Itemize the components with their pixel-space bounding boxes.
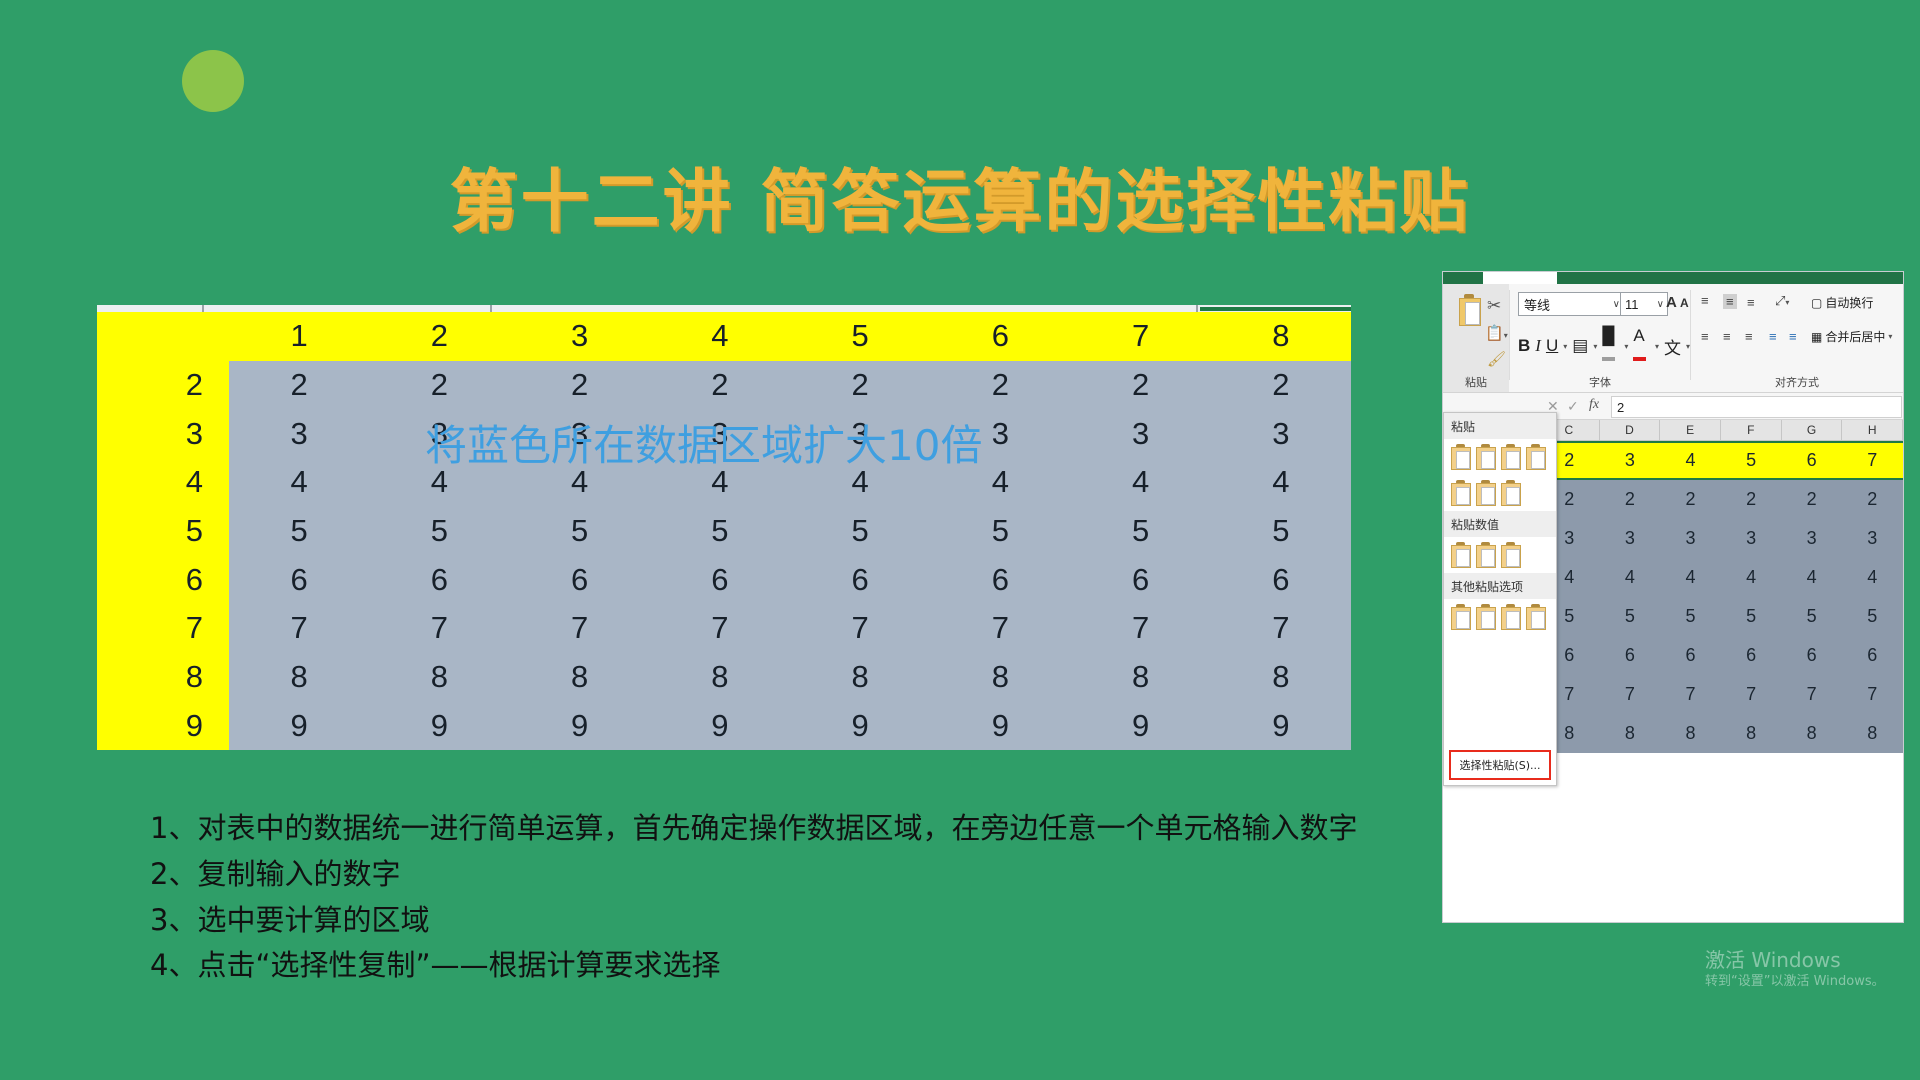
clipboard-page <box>1465 302 1480 325</box>
mini-cell: 5 <box>1721 441 1782 480</box>
main-header-cell: 7 <box>1071 312 1211 361</box>
mini-cell: 2 <box>1781 480 1842 519</box>
main-data-cell: 6 <box>369 555 509 604</box>
main-data-cell: 9 <box>229 701 369 750</box>
clipboard-content <box>1531 611 1545 629</box>
mini-cell: 5 <box>1781 597 1842 636</box>
paste-other-icons <box>1444 599 1556 635</box>
mini-cell: 2 <box>1842 480 1903 519</box>
main-data-cell: 6 <box>510 555 650 604</box>
tab-home-active[interactable] <box>1483 272 1557 284</box>
main-data-cell: 3 <box>650 409 790 458</box>
note-line-2: 2、复制输入的数字 <box>150 852 1440 898</box>
main-data-cell: 4 <box>229 458 369 507</box>
sheet-column-bar <box>97 305 1351 312</box>
main-data-cell: 6 <box>229 555 369 604</box>
main-data-cell: 8 <box>790 653 930 702</box>
main-data-cell: 8 <box>1211 653 1351 702</box>
paste-option-icon[interactable] <box>1450 444 1471 469</box>
main-header-cell: 6 <box>930 312 1070 361</box>
mini-column-header[interactable]: F <box>1721 420 1782 440</box>
clipboard-content <box>1456 451 1470 469</box>
main-data-cell: 9 <box>1211 701 1351 750</box>
main-data-cell: 9 <box>790 701 930 750</box>
mini-cell: 4 <box>1842 558 1903 597</box>
mini-cell: 8 <box>1721 714 1782 753</box>
mini-cell: 5 <box>1721 597 1782 636</box>
underline-chevron-icon[interactable]: ▾ <box>1563 342 1567 351</box>
main-header-cell: 5 <box>790 312 930 361</box>
main-grid: 1234567822222222233333333344444444455555… <box>97 312 1351 750</box>
mini-sheet-column-headers: CDEFGH <box>1539 420 1903 441</box>
mini-cell: 7 <box>1842 675 1903 714</box>
main-data-cell: 7 <box>229 604 369 653</box>
main-data-cell: 7 <box>1211 604 1351 653</box>
main-data-cell: 9 <box>930 701 1070 750</box>
bold-button[interactable]: B <box>1518 336 1530 356</box>
windows-activation-watermark: 激活 Windows 转到“设置”以激活 Windows。 <box>1705 948 1920 991</box>
fill-chevron-icon[interactable]: ▾ <box>1624 342 1628 351</box>
main-data-cell: 5 <box>930 507 1070 556</box>
orientation-icon[interactable]: ⤢▾ <box>1775 294 1789 307</box>
ribbon-group-font: 等线 ∨ 11 ∨ A A B I U ▾ ▤ ▾ █ ▾ A ▾ 文 ▾ <box>1510 284 1690 392</box>
selection-marker <box>1200 307 1351 311</box>
clipboard-content <box>1481 611 1495 629</box>
main-data-cell: 5 <box>1211 507 1351 556</box>
main-row-header-cell: 5 <box>97 507 229 556</box>
main-data-cell: 2 <box>790 361 930 410</box>
main-data-cell: 7 <box>1071 604 1211 653</box>
mini-cell: 8 <box>1600 714 1661 753</box>
paste-special-menu-item[interactable]: 选择性粘贴(S)... <box>1449 750 1551 780</box>
paste-option-icon[interactable] <box>1475 480 1496 505</box>
font-size-combo[interactable]: 11 ∨ <box>1620 292 1668 316</box>
main-data-cell: 2 <box>229 361 369 410</box>
col-tick-left <box>202 305 204 312</box>
chevron-down-icon[interactable]: ∨ <box>1657 299 1664 310</box>
main-data-cell: 4 <box>650 458 790 507</box>
paste-other-icon[interactable] <box>1525 604 1546 629</box>
main-data-cell: 5 <box>650 507 790 556</box>
main-data-cell: 9 <box>1071 701 1211 750</box>
col-tick-right <box>1196 305 1198 312</box>
main-header-cell: 1 <box>229 312 369 361</box>
main-data-cell: 5 <box>510 507 650 556</box>
mini-cell: 2 <box>1600 480 1661 519</box>
excel-ribbon: ✂ 📋▾ 🖌 粘贴 等线 ∨ 11 ∨ A A B I U ▾ ▤ <box>1443 284 1903 393</box>
formula-input[interactable]: 2 <box>1611 396 1902 418</box>
mini-column-header[interactable]: D <box>1600 420 1661 440</box>
align-right-icon[interactable]: ≡ <box>1745 330 1753 343</box>
main-data-cell: 6 <box>1211 555 1351 604</box>
mini-cell: 3 <box>1600 441 1661 480</box>
main-data-cell: 3 <box>510 409 650 458</box>
clipboard-content <box>1481 451 1495 469</box>
wrap-text-label: 自动换行 <box>1825 294 1873 311</box>
format-painter-icon[interactable]: 🖌 <box>1487 350 1506 368</box>
decrease-font-size-icon[interactable]: A <box>1680 296 1689 310</box>
clipboard-content <box>1456 549 1470 567</box>
main-header-cell: 2 <box>369 312 509 361</box>
main-data-cell: 2 <box>1211 361 1351 410</box>
clipboard-content <box>1506 451 1520 469</box>
main-data-cell: 9 <box>510 701 650 750</box>
mini-column-header[interactable]: G <box>1782 420 1843 440</box>
paste-menu-section-paste: 粘贴 <box>1444 413 1556 439</box>
main-data-cell: 4 <box>930 458 1070 507</box>
main-data-cell: 5 <box>1071 507 1211 556</box>
cut-icon[interactable]: ✂ <box>1487 296 1501 316</box>
merge-center-icon: ▦ <box>1811 330 1822 344</box>
mini-cell: 4 <box>1781 558 1842 597</box>
main-grid-corner <box>97 312 229 361</box>
ribbon-group-paste: ✂ 📋▾ 🖌 粘贴 <box>1443 284 1509 392</box>
mini-cell: 6 <box>1721 636 1782 675</box>
mini-cell: 3 <box>1721 519 1782 558</box>
paste-value-icons <box>1444 537 1556 573</box>
align-center-icon[interactable]: ≡ <box>1723 330 1731 343</box>
ribbon-group-alignment: ≡ ≡ ≡ ⤢▾ ▢ 自动换行 ≡ ≡ ≡ ≡ ≡ ▦ 合并后居中 ▾ 对齐方式 <box>1691 284 1903 392</box>
paste-menu-section-other: 其他粘贴选项 <box>1444 573 1556 599</box>
paste-value-icon[interactable] <box>1450 542 1471 567</box>
main-data-cell: 4 <box>510 458 650 507</box>
col-tick-mid <box>490 305 492 312</box>
mini-cell: 6 <box>1660 636 1721 675</box>
main-data-cell: 3 <box>229 409 369 458</box>
watermark-line-2: 转到“设置”以激活 Windows。 <box>1705 974 1920 991</box>
main-data-cell: 7 <box>650 604 790 653</box>
main-data-cell: 3 <box>369 409 509 458</box>
main-data-cell: 9 <box>369 701 509 750</box>
main-data-cell: 7 <box>510 604 650 653</box>
font-name-combo[interactable]: 等线 ∨ <box>1518 292 1625 316</box>
paste-dropdown-menu[interactable]: 粘贴 粘贴数值 其他粘贴选项 选择性粘贴(S)... <box>1443 412 1557 786</box>
main-row-header-cell: 7 <box>97 604 229 653</box>
chevron-down-icon[interactable]: ∨ <box>1613 299 1620 310</box>
confirm-entry-icon[interactable]: ✓ <box>1567 398 1579 415</box>
mini-cell: 8 <box>1842 714 1903 753</box>
main-row-header-cell: 6 <box>97 555 229 604</box>
main-data-cell: 8 <box>369 653 509 702</box>
wrap-text-button[interactable]: ▢ 自动换行 <box>1811 294 1873 311</box>
mini-cell: 4 <box>1600 558 1661 597</box>
mini-cell: 6 <box>1781 441 1842 480</box>
increase-indent-icon[interactable]: ≡ <box>1789 330 1797 343</box>
main-data-cell: 8 <box>650 653 790 702</box>
font-name-value: 等线 <box>1524 295 1550 314</box>
note-line-1: 1、对表中的数据统一进行简单运算，首先确定操作数据区域，在旁边任意一个单元格输入… <box>150 806 1440 852</box>
paste-value-icon[interactable] <box>1500 542 1521 567</box>
main-row-header-cell: 9 <box>97 701 229 750</box>
fill-color-icon[interactable]: █ <box>1602 326 1619 366</box>
paste-other-icon[interactable] <box>1450 604 1471 629</box>
mini-cell: 5 <box>1660 597 1721 636</box>
ribbon-group-label-font: 字体 <box>1510 374 1690 390</box>
note-line-4: 4、点击“选择性复制”——根据计算要求选择 <box>150 943 1440 989</box>
font-format-row: B I U ▾ ▤ ▾ █ ▾ A ▾ 文 ▾ <box>1518 326 1690 366</box>
borders-icon[interactable]: ▤ <box>1572 336 1588 356</box>
mini-cell: 7 <box>1781 675 1842 714</box>
mini-cell: 7 <box>1842 441 1903 480</box>
main-row-header-cell: 8 <box>97 653 229 702</box>
mini-cell: 4 <box>1721 558 1782 597</box>
main-data-cell: 7 <box>930 604 1070 653</box>
main-data-cell: 7 <box>790 604 930 653</box>
main-data-cell: 2 <box>369 361 509 410</box>
main-data-cell: 6 <box>650 555 790 604</box>
align-bottom-icon[interactable]: ≡ <box>1747 296 1755 309</box>
decrease-indent-icon[interactable]: ≡ <box>1769 330 1777 343</box>
mini-cell: 4 <box>1660 558 1721 597</box>
mini-cell: 3 <box>1660 519 1721 558</box>
paste-menu-section-values: 粘贴数值 <box>1444 511 1556 537</box>
clipboard-content <box>1506 487 1520 505</box>
main-data-cell: 6 <box>790 555 930 604</box>
mini-cell: 6 <box>1781 636 1842 675</box>
mini-cell: 2 <box>1660 480 1721 519</box>
paste-icon[interactable] <box>1457 294 1481 324</box>
main-data-cell: 9 <box>650 701 790 750</box>
clipboard-content <box>1481 487 1495 505</box>
merge-center-label: 合并后居中 <box>1825 328 1885 345</box>
main-header-cell: 8 <box>1211 312 1351 361</box>
main-spreadsheet: 1234567822222222233333333344444444455555… <box>97 305 1351 750</box>
main-header-cell: 4 <box>650 312 790 361</box>
clipboard-content <box>1456 611 1470 629</box>
paste-option-icons-row1 <box>1444 439 1556 475</box>
ribbon-group-label-paste: 粘贴 <box>1443 374 1509 390</box>
mini-cell: 3 <box>1600 519 1661 558</box>
mini-cell: 3 <box>1781 519 1842 558</box>
clipboard-content <box>1456 487 1470 505</box>
main-data-cell: 5 <box>229 507 369 556</box>
clipboard-content <box>1506 611 1520 629</box>
main-data-cell: 6 <box>1071 555 1211 604</box>
phonetic-guide-icon[interactable]: 文 <box>1664 334 1681 359</box>
main-data-cell: 5 <box>790 507 930 556</box>
main-data-cell: 7 <box>369 604 509 653</box>
main-data-cell: 3 <box>1071 409 1211 458</box>
italic-button[interactable]: I <box>1535 336 1541 356</box>
underline-button[interactable]: U <box>1546 336 1558 356</box>
main-data-cell: 2 <box>650 361 790 410</box>
font-color-icon[interactable]: A <box>1633 326 1650 366</box>
increase-font-size-icon[interactable]: A <box>1666 294 1677 311</box>
mini-cell: 3 <box>1842 519 1903 558</box>
watermark-line-1: 激活 Windows <box>1705 948 1920 972</box>
main-data-cell: 4 <box>369 458 509 507</box>
ribbon-group-label-alignment: 对齐方式 <box>1691 374 1903 390</box>
main-data-cell: 2 <box>1071 361 1211 410</box>
main-data-cell: 2 <box>510 361 650 410</box>
page-title: 第十二讲 简答运算的选择性粘贴 <box>0 146 1920 245</box>
align-left-icon[interactable]: ≡ <box>1701 330 1709 343</box>
font-size-value: 11 <box>1625 297 1639 312</box>
main-data-cell: 4 <box>1211 458 1351 507</box>
main-row-header-cell: 2 <box>97 361 229 410</box>
mini-cell: 7 <box>1600 675 1661 714</box>
merge-center-button[interactable]: ▦ 合并后居中 ▾ <box>1811 328 1892 345</box>
mini-cell: 4 <box>1660 441 1721 480</box>
mini-cell: 5 <box>1600 597 1661 636</box>
notes-block: 1、对表中的数据统一进行简单运算，首先确定操作数据区域，在旁边任意一个单元格输入… <box>150 806 1440 989</box>
paste-other-icon[interactable] <box>1475 604 1496 629</box>
mini-cell: 7 <box>1660 675 1721 714</box>
decorative-dot <box>182 50 244 112</box>
main-data-cell: 8 <box>510 653 650 702</box>
insert-function-icon[interactable]: fx <box>1589 397 1599 413</box>
mini-cell: 8 <box>1781 714 1842 753</box>
main-header-cell: 3 <box>510 312 650 361</box>
mini-column-header[interactable]: H <box>1842 420 1903 440</box>
clipboard-content <box>1531 451 1545 469</box>
main-data-cell: 2 <box>930 361 1070 410</box>
main-data-cell: 6 <box>930 555 1070 604</box>
borders-chevron-icon[interactable]: ▾ <box>1593 342 1597 351</box>
merge-chevron-icon[interactable]: ▾ <box>1888 332 1892 341</box>
align-middle-icon[interactable]: ≡ <box>1723 294 1737 309</box>
mini-cell: 7 <box>1721 675 1782 714</box>
note-line-3: 3、选中要计算的区域 <box>150 898 1440 944</box>
clipboard-content <box>1506 549 1520 567</box>
font-color-chevron-icon[interactable]: ▾ <box>1655 342 1659 351</box>
wrap-text-icon: ▢ <box>1811 296 1822 310</box>
main-data-cell: 4 <box>1071 458 1211 507</box>
main-data-cell: 3 <box>790 409 930 458</box>
paste-option-icon[interactable] <box>1525 444 1546 469</box>
mini-column-header[interactable]: E <box>1660 420 1721 440</box>
mini-cell: 2 <box>1721 480 1782 519</box>
mini-cell: 8 <box>1660 714 1721 753</box>
copy-icon[interactable]: 📋▾ <box>1485 324 1508 342</box>
paste-option-icon[interactable] <box>1450 480 1471 505</box>
paste-option-icon[interactable] <box>1500 444 1521 469</box>
paste-option-icon[interactable] <box>1500 480 1521 505</box>
paste-option-icons-row2 <box>1444 475 1556 511</box>
main-data-cell: 4 <box>790 458 930 507</box>
main-data-cell: 8 <box>930 653 1070 702</box>
align-top-icon[interactable]: ≡ <box>1701 294 1709 307</box>
main-data-cell: 5 <box>369 507 509 556</box>
main-row-header-cell: 3 <box>97 409 229 458</box>
mini-cell: 5 <box>1842 597 1903 636</box>
main-data-cell: 8 <box>229 653 369 702</box>
main-data-cell: 8 <box>1071 653 1211 702</box>
excel-screenshot-panel: ✂ 📋▾ 🖌 粘贴 等线 ∨ 11 ∨ A A B I U ▾ ▤ <box>1443 272 1903 922</box>
excel-tab-strip <box>1443 272 1903 284</box>
paste-option-icon[interactable] <box>1475 444 1496 469</box>
main-row-header-cell: 4 <box>97 458 229 507</box>
mini-cell: 6 <box>1842 636 1903 675</box>
mini-cell: 6 <box>1600 636 1661 675</box>
paste-other-icon[interactable] <box>1500 604 1521 629</box>
clipboard-content <box>1481 549 1495 567</box>
main-data-cell: 3 <box>1211 409 1351 458</box>
main-data-cell: 3 <box>930 409 1070 458</box>
paste-value-icon[interactable] <box>1475 542 1496 567</box>
